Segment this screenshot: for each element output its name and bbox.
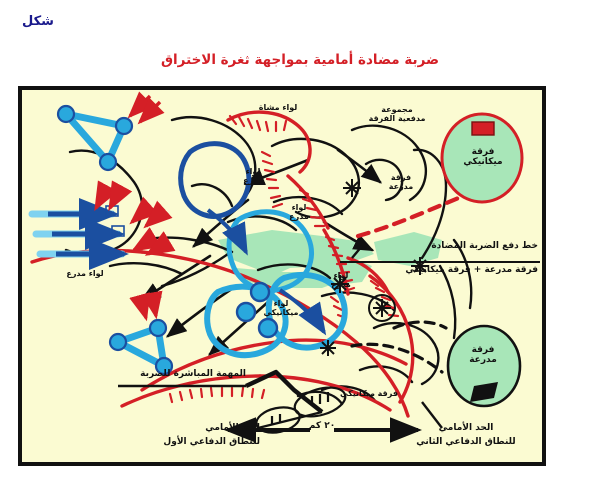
mechanized-division-ellipse-group xyxy=(442,114,522,202)
figure-tag: شكل xyxy=(22,14,54,29)
blue-triangle-unit-lower-left xyxy=(110,294,172,374)
counterstrike-axis-dashed xyxy=(358,194,468,236)
diagram-frame: لواء مشاة مجموعة مدفعية الفرقة لواء مدرع… xyxy=(18,86,546,466)
armored-division-ellipse-group xyxy=(448,326,520,406)
defensive-belt-leaders xyxy=(258,402,442,428)
figure-page: شكل ضربة مضادة أمامية بمواجهة ثغرة الاخت… xyxy=(0,0,600,500)
diagram-title: ضربة مضادة أمامية بمواجهة ثغرة الاختراق xyxy=(0,52,600,68)
tactical-diagram-svg xyxy=(22,90,542,462)
armored-brigade-attack-arrows xyxy=(32,186,168,254)
blue-triangle-unit-top-left xyxy=(58,96,160,170)
